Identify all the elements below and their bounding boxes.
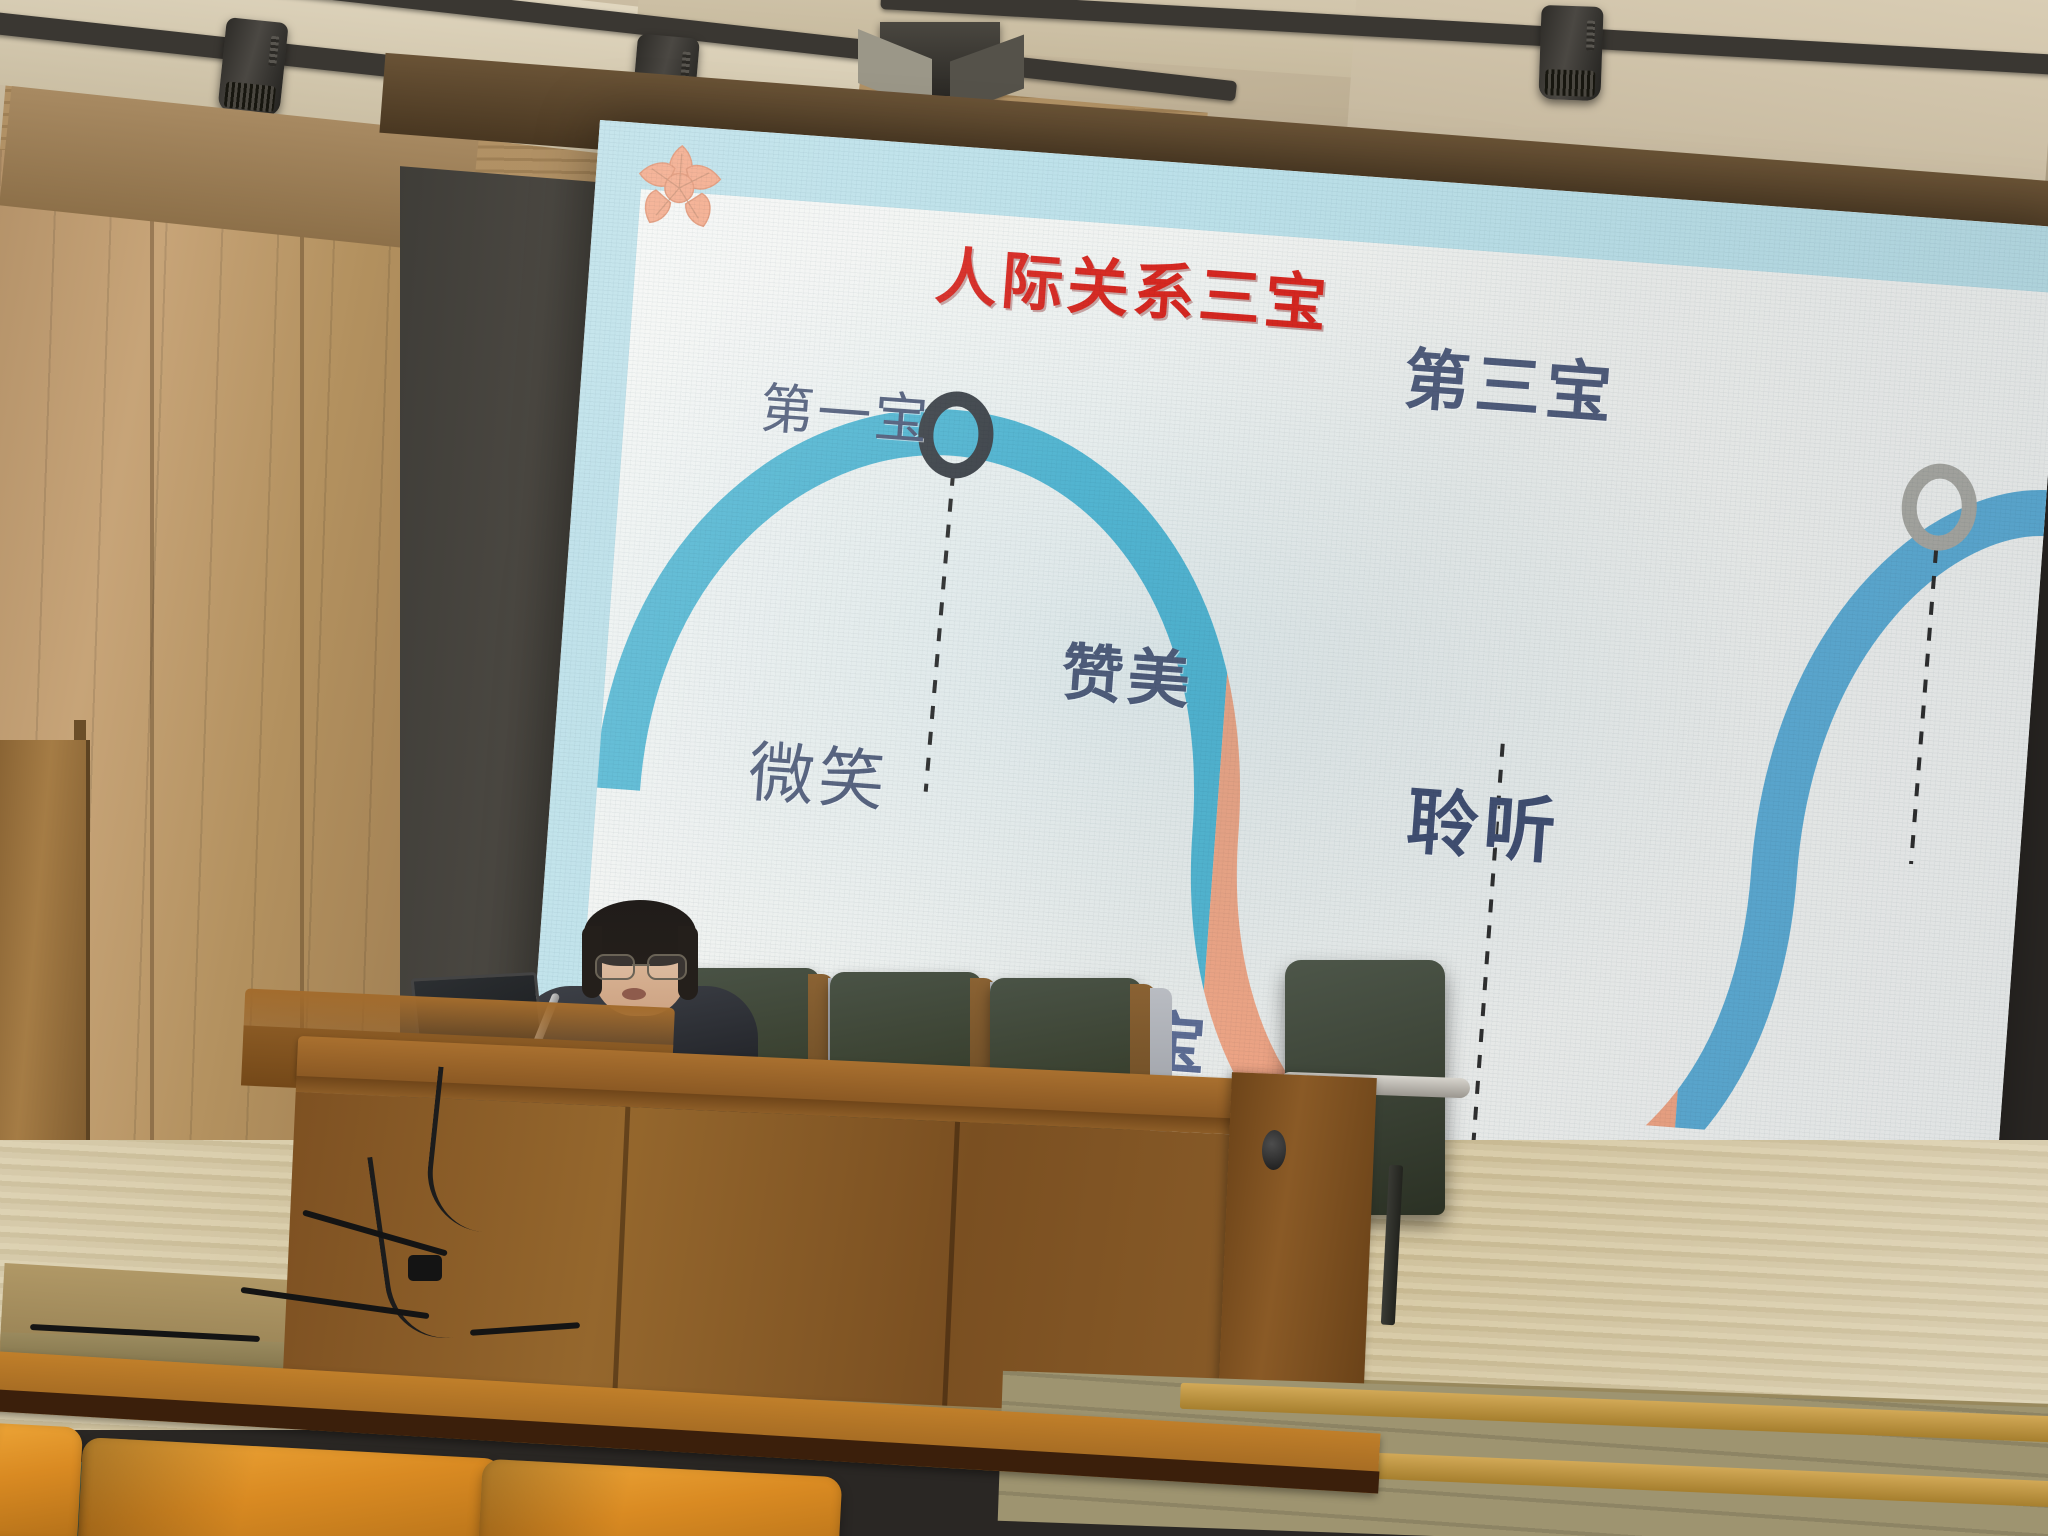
side-cabinet <box>1218 1072 1377 1408</box>
wall-seam <box>150 210 154 1230</box>
label-listen: 聆听 <box>1403 762 1564 878</box>
sakura-flower-icon <box>628 137 731 240</box>
audience-seat[interactable] <box>478 1459 843 1536</box>
presenter-mouth <box>622 988 646 1000</box>
audience-seat[interactable] <box>77 1437 502 1536</box>
stage-spotlight-icon <box>1538 5 1603 101</box>
cable-clamp <box>408 1255 442 1281</box>
label-praise: 赞美 <box>1059 621 1197 720</box>
glasses-icon <box>594 954 688 976</box>
label-first-treasure: 第一宝 <box>758 364 934 455</box>
fresnel-light-icon <box>880 22 1000 96</box>
audience-seat[interactable] <box>0 1420 83 1536</box>
label-smile: 微笑 <box>746 719 893 825</box>
auditorium-scene: 人际关系三宝 <box>0 0 2048 1536</box>
label-third-treasure: 第三宝 <box>1401 326 1620 437</box>
stage-spotlight-icon <box>217 17 288 117</box>
